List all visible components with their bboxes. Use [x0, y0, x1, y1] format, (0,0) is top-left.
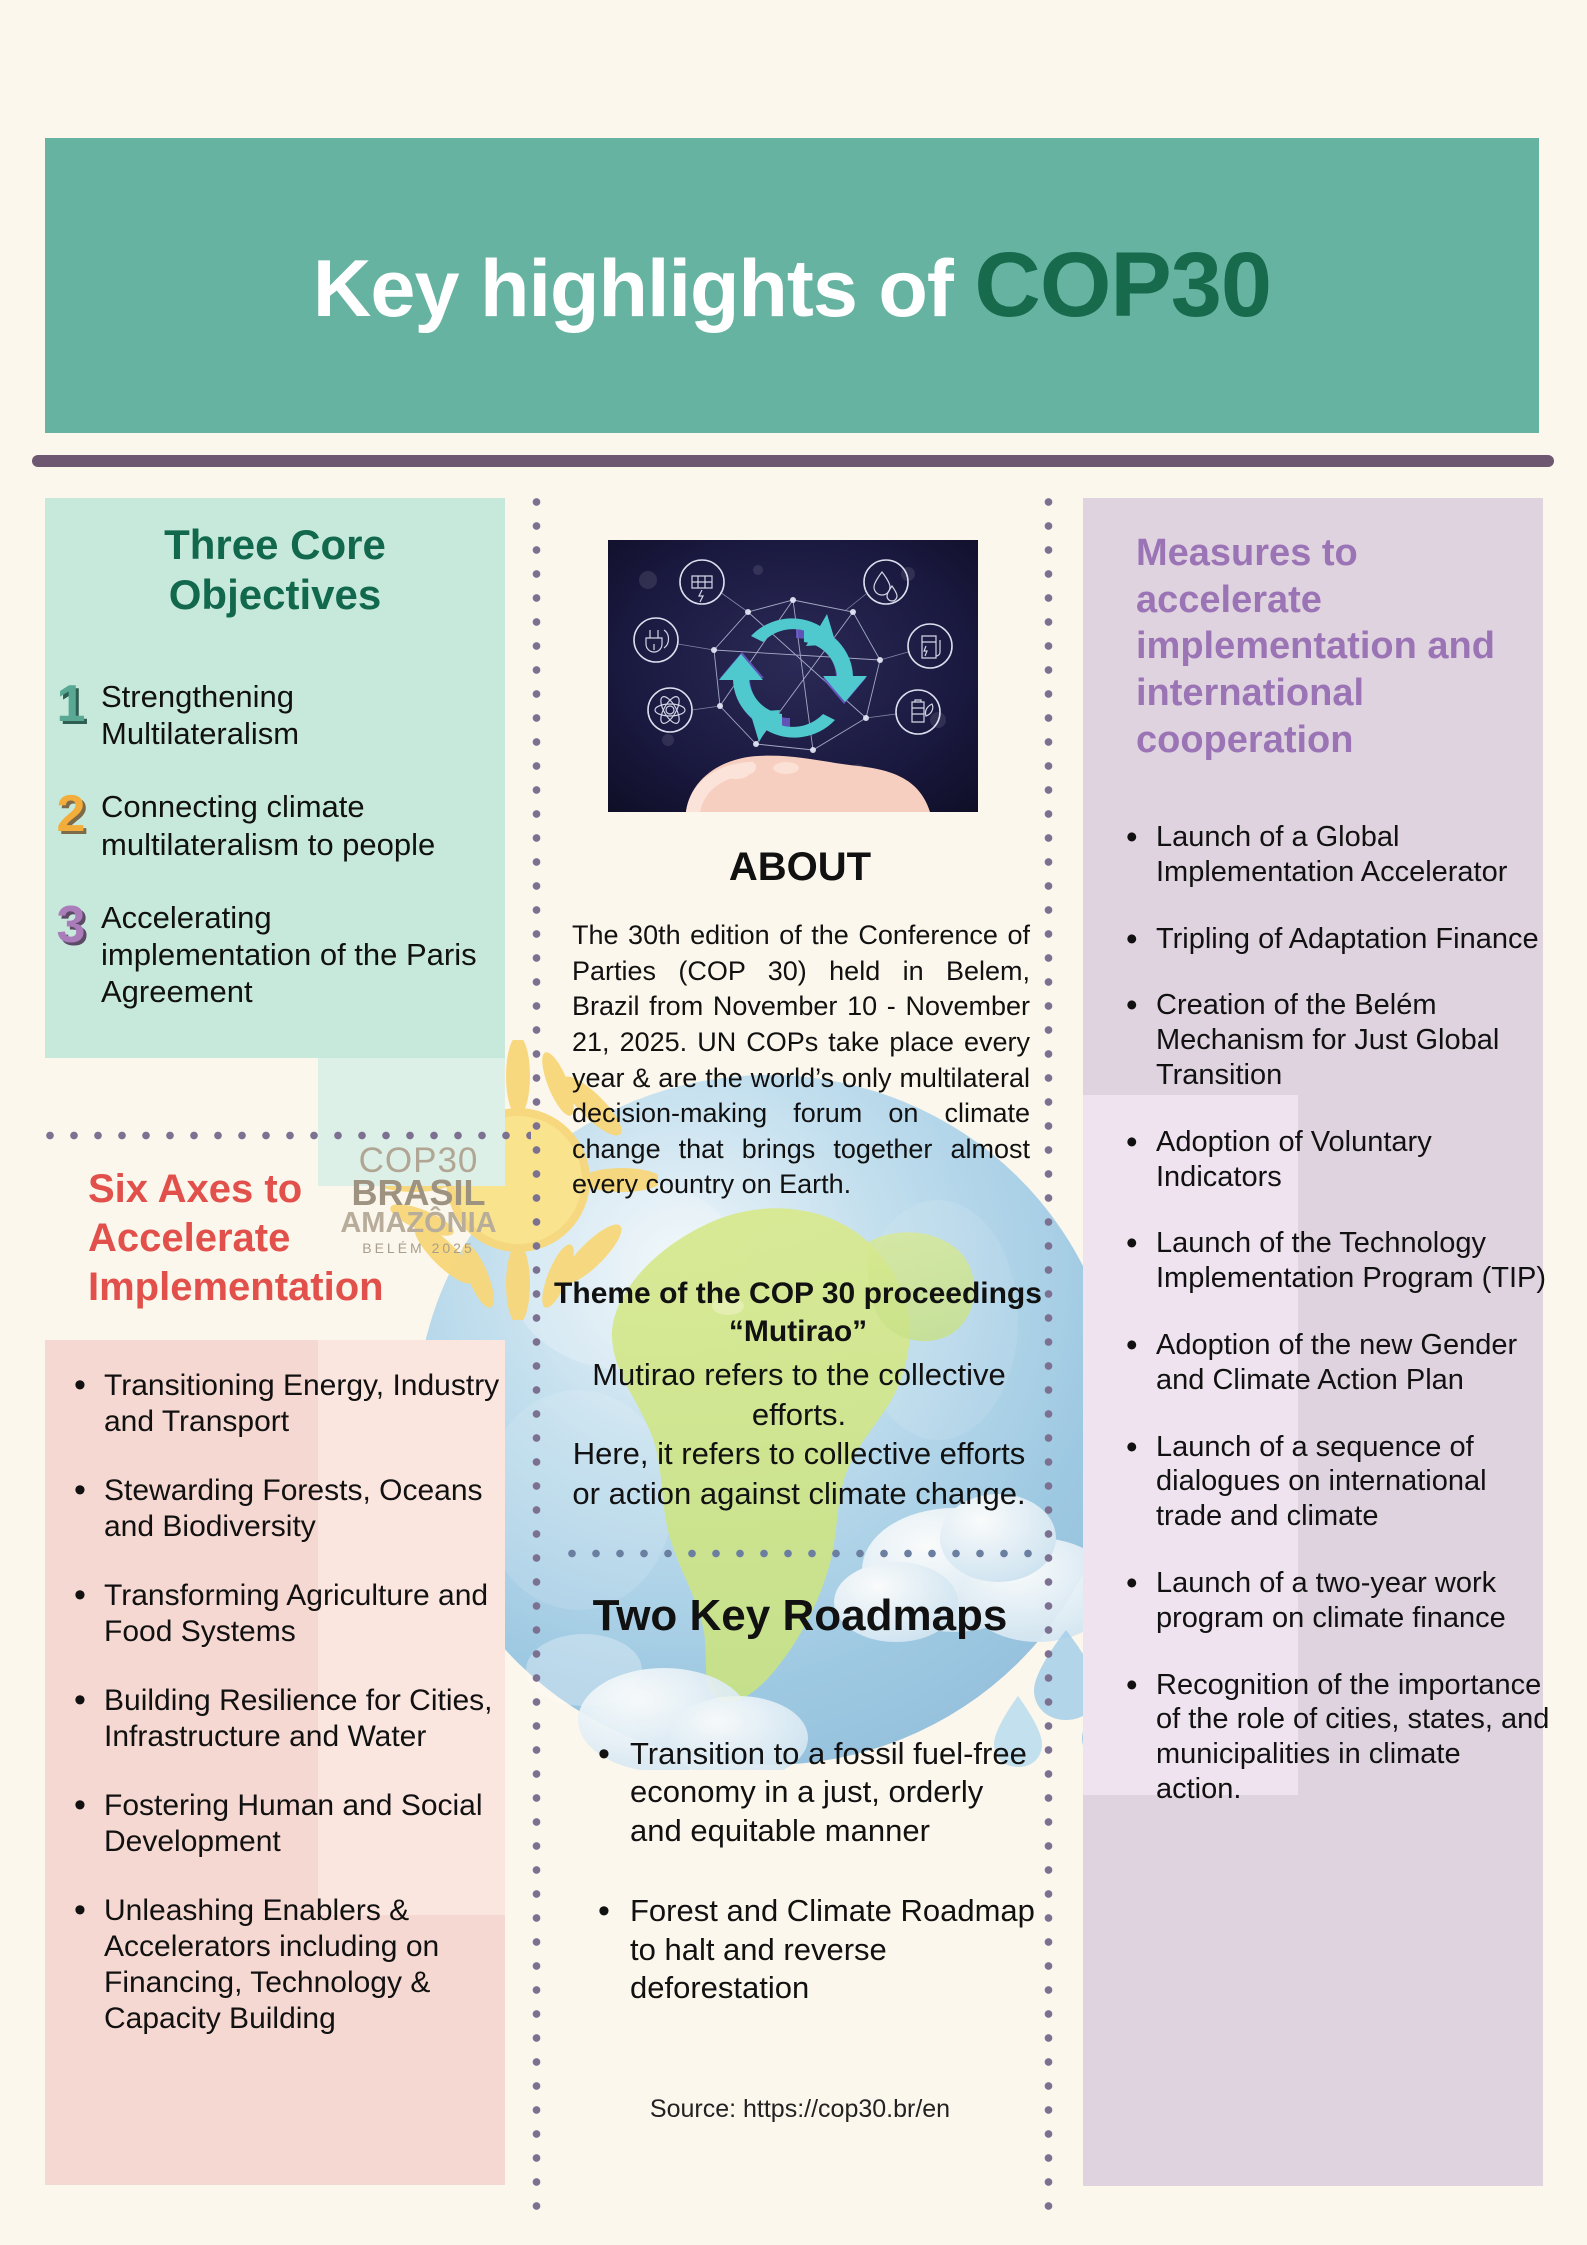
list-item: Fostering Human and Social Development: [58, 1788, 508, 1860]
list-item: Adoption of the new Gender and Climate A…: [1110, 1328, 1550, 1398]
infographic-page: Key highlights of COP30 Three Core Objec…: [0, 0, 1587, 2245]
theme-body-text: Mutirao refers to the collective efforts…: [556, 1355, 1042, 1514]
objective-text: Connecting climate multilateralism to pe…: [97, 788, 487, 862]
list-item: Creation of the Belém Mechanism for Just…: [1110, 988, 1550, 1092]
objectives-title: Three Core Objectives: [75, 520, 475, 619]
list-item: Adoption of Voluntary Indicators: [1110, 1125, 1550, 1195]
list-item: Transition to a fossil fuel-free economy…: [588, 1735, 1038, 1850]
measures-title: Measures to accelerate implementation an…: [1136, 530, 1536, 764]
list-item: Stewarding Forests, Oceans and Biodivers…: [58, 1473, 508, 1545]
horizontal-divider-left-column: [38, 1130, 531, 1141]
objective-text: Accelerating implementation of the Paris…: [97, 899, 487, 1011]
list-item: Tripling of Adaptation Finance: [1110, 922, 1550, 957]
list-item: Forest and Climate Roadmap to halt and r…: [588, 1892, 1038, 2007]
list-item: 3 Accelerating implementation of the Par…: [45, 899, 515, 1011]
objective-number: 1: [45, 680, 97, 729]
list-item: Launch of a Global Implementation Accele…: [1110, 820, 1550, 890]
about-body-text: The 30th edition of the Conference of Pa…: [572, 918, 1030, 1203]
source-citation: Source: https://cop30.br/en: [560, 2095, 1040, 2124]
objectives-list: 1 Strengthening Multilateralism 2 Connec…: [45, 678, 515, 1046]
list-item: Launch of the Technology Implementation …: [1110, 1226, 1550, 1296]
objective-number: 2: [45, 790, 97, 839]
horizontal-divider-center-column: [560, 1548, 1040, 1559]
objective-text: Strengthening Multilateralism: [97, 678, 487, 752]
header-divider-rule: [32, 455, 1554, 467]
list-item: Unleashing Enablers & Accelerators inclu…: [58, 1893, 508, 2037]
objective-number: 3: [45, 901, 97, 950]
measures-list: Launch of a Global Implementation Accele…: [1110, 820, 1550, 1839]
page-title-prefix: Key highlights of: [313, 244, 974, 334]
list-item: 1 Strengthening Multilateralism: [45, 678, 515, 752]
list-item: Launch of a sequence of dialogues on int…: [1110, 1430, 1550, 1534]
axes-title: Six Axes to Accelerate Implementation: [88, 1165, 488, 1311]
list-item: Transforming Agriculture and Food System…: [58, 1578, 508, 1650]
header-banner: Key highlights of COP30: [45, 138, 1539, 433]
roadmaps-list: Transition to a fossil fuel-free economy…: [588, 1735, 1038, 2050]
roadmaps-title: Two Key Roadmaps: [560, 1590, 1040, 1642]
list-item: Launch of a two-year work program on cli…: [1110, 1566, 1550, 1636]
renewable-energy-hero-image: [608, 540, 978, 812]
about-title: ABOUT: [560, 845, 1040, 890]
list-item: Recognition of the importance of the rol…: [1110, 1668, 1550, 1807]
page-title: Key highlights of COP30: [313, 233, 1271, 338]
vertical-divider-right: [1043, 490, 1054, 2220]
list-item: Transitioning Energy, Industry and Trans…: [58, 1368, 508, 1440]
list-item: 2 Connecting climate multilateralism to …: [45, 788, 515, 862]
page-title-accent: COP30: [974, 234, 1271, 336]
vertical-divider-left: [531, 490, 542, 2220]
axes-list: Transitioning Energy, Industry and Trans…: [58, 1368, 508, 2070]
theme-title: Theme of the COP 30 proceedings “Mutirao…: [548, 1275, 1048, 1350]
list-item: Building Resilience for Cities, Infrastr…: [58, 1683, 508, 1755]
